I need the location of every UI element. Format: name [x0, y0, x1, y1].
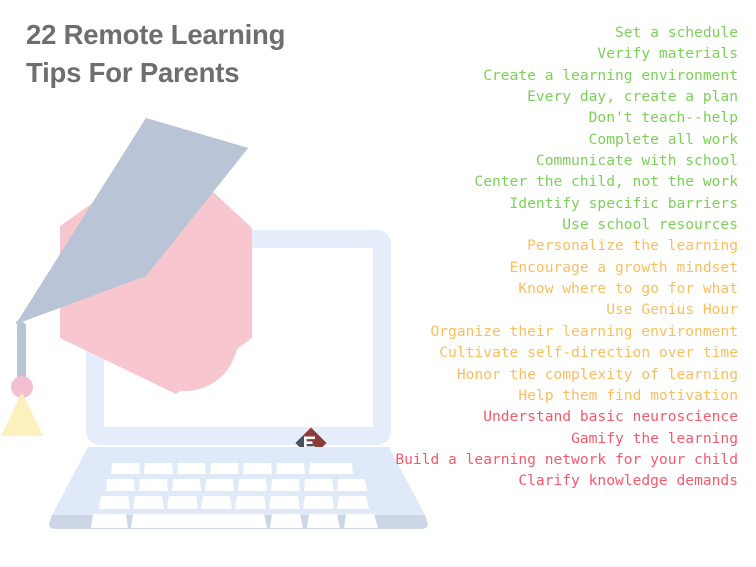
tip-item: Clarify knowledge demands — [218, 470, 738, 491]
tip-item: Honor the complexity of learning — [218, 364, 738, 385]
tip-item: Set a schedule — [218, 22, 738, 43]
tip-item: Understand basic neuroscience — [218, 406, 738, 427]
tips-list: Set a schedule Verify materials Create a… — [218, 22, 738, 492]
tip-item: Cultivate self-direction over time — [218, 342, 738, 363]
infographic-canvas: 22 Remote Learning Tips For Parents — [0, 0, 756, 567]
tip-item: Encourage a growth mindset — [218, 257, 738, 278]
tip-item: Create a learning environment — [218, 65, 738, 86]
graduation-cap-tassel — [1, 322, 43, 436]
tip-item: Verify materials — [218, 43, 738, 64]
tip-item: Personalize the learning — [218, 235, 738, 256]
tip-item: Center the child, not the work — [218, 171, 738, 192]
tip-item: Organize their learning environment — [218, 321, 738, 342]
tip-item: Don't teach--help — [218, 107, 738, 128]
tip-item: Use Genius Hour — [218, 299, 738, 320]
tip-item: Identify specific barriers — [218, 193, 738, 214]
tip-item: Complete all work — [218, 129, 738, 150]
tip-item: Know where to go for what — [218, 278, 738, 299]
tip-item: Communicate with school — [218, 150, 738, 171]
keyboard-keys-row-4 — [91, 514, 378, 528]
tip-item: Gamify the learning — [218, 428, 738, 449]
tip-item: Use school resources — [218, 214, 738, 235]
tip-item: Every day, create a plan — [218, 86, 738, 107]
tip-item: Help them find motivation — [218, 385, 738, 406]
tip-item: Build a learning network for your child — [218, 449, 738, 470]
